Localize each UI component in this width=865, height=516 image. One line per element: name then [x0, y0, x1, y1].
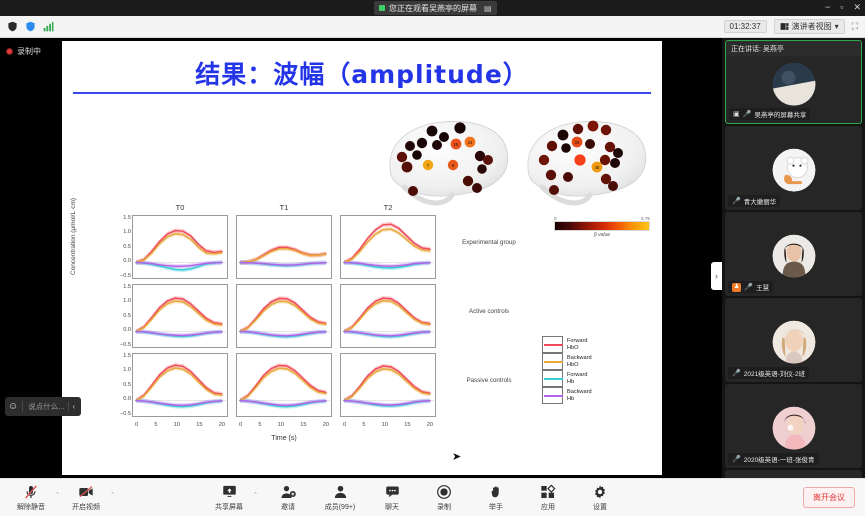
toolbar-button-camera-off[interactable]: 开启视频 — [63, 484, 109, 512]
title-underline — [73, 92, 651, 94]
avatar — [772, 235, 815, 278]
collapse-chat-icon[interactable]: ‹ — [68, 402, 78, 411]
plot-panel-passive-t2 — [340, 353, 436, 417]
screen-share-indicator-dot — [379, 5, 385, 11]
toolbar-button-label: 举手 — [489, 502, 503, 512]
legend-item-backward-hb: Backward Hb — [542, 387, 592, 404]
toolbar-button-label: 解除静音 — [17, 502, 45, 512]
column-header-t2: T2 — [340, 203, 436, 212]
y-tick-label: 1.5 — [123, 353, 131, 359]
toolbar-left-group: 解除静音＾开启视频＾ — [0, 484, 116, 512]
column-header-t0: T0 — [132, 203, 228, 212]
legend-label: Forward HbO — [567, 338, 588, 351]
legend-label: Forward Hb — [567, 372, 588, 385]
x-tick-label: 10 — [174, 422, 180, 428]
row-label: Active controls — [454, 308, 524, 316]
gear-icon — [592, 484, 608, 500]
zoom-meeting-window: 您正在观看吴燕亭的屏幕 ▤ − ▫ ✕ 01:32:37 — [0, 0, 865, 516]
speaker-view-icon — [780, 22, 789, 31]
x-tick-label: 15 — [404, 422, 410, 428]
column-header-t1: T1 — [236, 203, 332, 212]
mouse-cursor: ➤ — [452, 450, 461, 463]
plot-panel-passive-t1 — [236, 353, 332, 417]
microphone-muted-icon: 🎤 — [732, 369, 741, 377]
y-tick-label: 1.5 — [123, 215, 131, 221]
recording-indicator[interactable]: 录制中 — [6, 46, 41, 57]
toolbar-button-participants[interactable]: 成员(99+) — [317, 484, 363, 512]
y-tick-label: 0.5 — [123, 244, 131, 250]
avatar — [772, 149, 815, 192]
microphone-icon: 🎤 — [743, 110, 752, 118]
toolbar-button-label: 应用 — [541, 502, 555, 512]
legend-line — [544, 344, 563, 346]
chevron-up-icon[interactable]: ＾ — [54, 492, 61, 512]
legend-line — [544, 395, 563, 397]
plot-panel-passive-t0 — [132, 353, 228, 417]
chevron-up-icon[interactable]: ＾ — [109, 492, 116, 512]
legend-label: Backward HbO — [567, 355, 592, 368]
legend-swatch — [542, 370, 563, 387]
y-tick-label: −0.5 — [120, 411, 131, 417]
toolbar-button-invite-person[interactable]: 邀请 — [265, 484, 311, 512]
toolbar-button-screen-share[interactable]: 共享屏幕 — [206, 484, 252, 512]
shared-screen-stage: 录制中 结果：波幅（amplitude） — [0, 38, 722, 478]
window-titlebar: 您正在观看吴燕亭的屏幕 ▤ − ▫ ✕ — [0, 0, 865, 16]
y-tick-label: 0.0 — [123, 327, 131, 333]
toolbar-center-group: 共享屏幕＾邀请成员(99+)聊天录制举手应用设置 — [206, 484, 623, 512]
panel-row: 1.51.00.50.0−0.5Passive controls — [132, 353, 436, 417]
meeting-toolbar: 解除静音＾开启视频＾ 共享屏幕＾邀请成员(99+)聊天录制举手应用设置 离开会议 — [0, 478, 865, 516]
toolbar-button-label: 成员(99+) — [325, 502, 356, 512]
x-tick-label: 15 — [300, 422, 306, 428]
participant-tile[interactable]: 🎤青大嫩丽华 — [725, 126, 862, 210]
brain-node-label: 24 — [468, 140, 473, 145]
signal-strength-icon[interactable] — [43, 21, 54, 32]
toolbar-button-chat-bubble[interactable]: 聊天 — [369, 484, 415, 512]
info-icon[interactable] — [25, 21, 36, 32]
toolbar-button-record-circle[interactable]: 录制 — [421, 484, 467, 512]
y-tick-label: 1.0 — [123, 298, 131, 304]
toolbar-button-label: 邀请 — [281, 502, 295, 512]
y-tick-label: −0.5 — [120, 342, 131, 348]
x-tick-label: 0 — [343, 422, 346, 428]
brain-node-label: 48 — [595, 165, 600, 170]
participant-namebar: ♟🎤王慧 — [728, 281, 773, 293]
chart-legend: Forward HbOBackward HbOForward HbBackwar… — [542, 336, 592, 404]
y-axis-label: Concentration (μmol/L·cm) — [70, 198, 77, 275]
legend-swatch — [542, 353, 563, 370]
participant-tile[interactable]: ♟🎤王慧 — [725, 212, 862, 296]
x-axis-label: Time (s) — [132, 435, 436, 442]
fullscreen-icon[interactable]: ⛶ — [852, 21, 858, 32]
participants-icon — [332, 484, 349, 500]
avatar — [772, 321, 815, 364]
screen-share-icon — [221, 484, 238, 500]
participant-tile[interactable]: ▾ — [725, 470, 862, 478]
participant-namebar: 🎤2021级英语-刘仪-2班 — [728, 367, 809, 379]
participant-name: 2020级英语-一班-张俊青 — [744, 454, 815, 464]
participant-name: 王慧 — [756, 282, 769, 292]
x-tick-label: 15 — [196, 422, 202, 428]
toolbar-button-label: 开启视频 — [72, 502, 100, 512]
brain-renderings: 7 9 19 24 — [380, 113, 648, 213]
page-title: 结果：波幅（amplitude） — [62, 55, 662, 91]
brain-left: 7 9 19 24 — [390, 121, 508, 203]
presentation-slide: 结果：波幅（amplitude） — [62, 41, 662, 475]
toolbar-button-label: 共享屏幕 — [215, 502, 243, 512]
maximize-button[interactable]: ▫ — [840, 2, 843, 13]
raise-hand-icon — [489, 484, 503, 500]
record-dot-icon — [6, 48, 13, 55]
legend-line — [544, 361, 563, 363]
y-axis-ticks: 1.51.00.50.0−0.5 — [115, 215, 131, 279]
meeting-timer: 01:32:37 — [724, 20, 767, 33]
y-tick-label: 0.0 — [123, 258, 131, 264]
toolbar-button-label: 录制 — [437, 502, 451, 512]
chat-input[interactable]: 说点什么... — [22, 401, 64, 412]
participant-tile[interactable]: 🎤2020级英语-一班-张俊青 — [725, 384, 862, 468]
screen-share-banner[interactable]: 您正在观看吴燕亭的屏幕 ▤ — [374, 1, 497, 15]
plot-panel-active-t1 — [236, 284, 332, 348]
x-tick-label: 0 — [135, 422, 138, 428]
avatar — [772, 63, 815, 106]
toolbar-button-label: 聊天 — [385, 502, 399, 512]
emoji-icon[interactable]: ☺ — [8, 401, 18, 412]
participant-name: 青大嫩丽华 — [744, 196, 777, 206]
y-axis-ticks: 1.51.00.50.0−0.5 — [115, 353, 131, 417]
y-tick-label: 1.0 — [123, 367, 131, 373]
panel-row: 1.51.00.50.0−0.5Experimental group — [132, 215, 436, 279]
legend-item-backward-hbo: Backward HbO — [542, 353, 592, 370]
legend-swatch — [542, 387, 563, 404]
panel-grid: 1.51.00.50.0−0.5Experimental group1.51.0… — [132, 215, 436, 442]
toolbar-button-raise-hand[interactable]: 举手 — [473, 484, 519, 512]
microphone-muted-icon: 🎤 — [732, 455, 741, 463]
y-tick-label: 0.5 — [123, 313, 131, 319]
chevron-up-icon[interactable]: ＾ — [252, 492, 259, 512]
timecourse-figure: Concentration (μmol/L·cm) T0T1T2 1.51.00… — [74, 203, 654, 463]
screen-share-icon: ▣ — [733, 110, 740, 118]
chat-bubble-icon — [384, 484, 401, 500]
plot-panel-active-t2 — [340, 284, 436, 348]
toolbar-button-label: 设置 — [593, 502, 607, 512]
y-axis-ticks: 1.51.00.50.0−0.5 — [115, 284, 131, 348]
participant-namebar: 🎤青大嫩丽华 — [728, 195, 780, 207]
status-icons-group — [0, 21, 54, 32]
x-tick-label: 5 — [362, 422, 365, 428]
host-icon: ♟ — [732, 283, 741, 292]
x-tick-label: 20 — [323, 422, 329, 428]
legend-swatch — [542, 336, 563, 353]
microphone-muted-icon — [23, 484, 39, 500]
participant-tile[interactable]: 🎤2021级英语-刘仪-2班 — [725, 298, 862, 382]
participant-tile[interactable]: 正在讲话: 吴燕亭▣🎤吴燕亭的屏幕共享 — [725, 40, 862, 124]
apps-grid-icon — [540, 484, 556, 500]
x-tick-label: 5 — [154, 422, 157, 428]
row-label: Passive controls — [454, 377, 524, 385]
y-tick-label: 1.5 — [123, 284, 131, 290]
row-label: Experimental group — [454, 239, 524, 247]
x-tick-label: 20 — [219, 422, 225, 428]
brain-node-label: 19 — [454, 142, 459, 147]
toolbar-button-apps-grid[interactable]: 应用 — [525, 484, 571, 512]
invite-person-icon — [280, 484, 297, 500]
meeting-controls-right: 01:32:37 演讲者视图 ▾ ⛶ — [724, 19, 865, 34]
plot-panel-active-t0 — [132, 284, 228, 348]
y-tick-label: 1.0 — [123, 229, 131, 235]
plot-panel-experimental-t2 — [340, 215, 436, 279]
participant-name: 吴燕亭的屏幕共享 — [754, 109, 806, 119]
view-mode-label: 演讲者视图 — [792, 21, 832, 32]
participant-name: 2021级英语-刘仪-2班 — [744, 368, 805, 378]
y-tick-label: 0.0 — [123, 396, 131, 402]
banner-menu-icon[interactable]: ▤ — [484, 4, 492, 13]
shield-icon[interactable] — [7, 21, 18, 32]
participants-rail[interactable]: 正在讲话: 吴燕亭▣🎤吴燕亭的屏幕共享🎤青大嫩丽华♟🎤王慧🎤2021级英语-刘仪… — [722, 38, 865, 478]
microphone-muted-icon: 🎤 — [744, 283, 753, 291]
legend-item-forward-hb: Forward Hb — [542, 370, 592, 387]
microphone-muted-icon: 🎤 — [732, 197, 741, 205]
avatar — [772, 407, 815, 450]
chat-input-bar[interactable]: ☺ 说点什么... ‹ — [5, 397, 81, 416]
legend-item-forward-hbo: Forward HbO — [542, 336, 592, 353]
panel-toggle-button[interactable]: › — [711, 262, 722, 290]
plot-panel-experimental-t0 — [132, 215, 228, 279]
x-tick-label: 0 — [239, 422, 242, 428]
minimize-button[interactable]: − — [825, 2, 830, 13]
view-mode-selector[interactable]: 演讲者视图 ▾ — [774, 19, 845, 34]
window-controls: − ▫ ✕ — [825, 2, 861, 13]
plot-panel-experimental-t1 — [236, 215, 332, 279]
brain-node-label: 33 — [575, 140, 580, 145]
legend-label: Backward Hb — [567, 389, 592, 402]
screen-share-banner-label: 您正在观看吴燕亭的屏幕 — [389, 3, 477, 14]
toolbar-button-microphone-muted[interactable]: 解除静音 — [8, 484, 54, 512]
recording-label: 录制中 — [17, 46, 41, 57]
meeting-status-bar: 01:32:37 演讲者视图 ▾ ⛶ — [0, 16, 865, 38]
record-circle-icon — [436, 484, 452, 500]
x-tick-label: 10 — [382, 422, 388, 428]
x-tick-label: 20 — [427, 422, 433, 428]
camera-off-icon — [77, 484, 95, 500]
legend-line — [544, 378, 563, 380]
chevron-down-icon: ▾ — [835, 22, 839, 31]
y-tick-label: −0.5 — [120, 273, 131, 279]
participant-namebar: ▣🎤吴燕亭的屏幕共享 — [729, 108, 810, 120]
close-button[interactable]: ✕ — [853, 2, 861, 13]
participant-namebar: 🎤2020级英语-一班-张俊青 — [728, 453, 819, 465]
x-tick-label: 10 — [278, 422, 284, 428]
y-tick-label: 0.5 — [123, 382, 131, 388]
brain-figure-svg: 7 9 19 24 — [380, 113, 648, 213]
x-tick-label: 5 — [258, 422, 261, 428]
panel-row: 1.51.00.50.0−0.5Active controls — [132, 284, 436, 348]
toolbar-button-gear[interactable]: 设置 — [577, 484, 623, 512]
x-axis-ticks: 051015200510152005101520 — [132, 422, 436, 428]
brain-right: 33 48 — [528, 121, 646, 203]
active-speaker-label: 正在讲话: 吴燕亭 — [726, 41, 861, 56]
leave-meeting-button[interactable]: 离开会议 — [803, 487, 855, 508]
